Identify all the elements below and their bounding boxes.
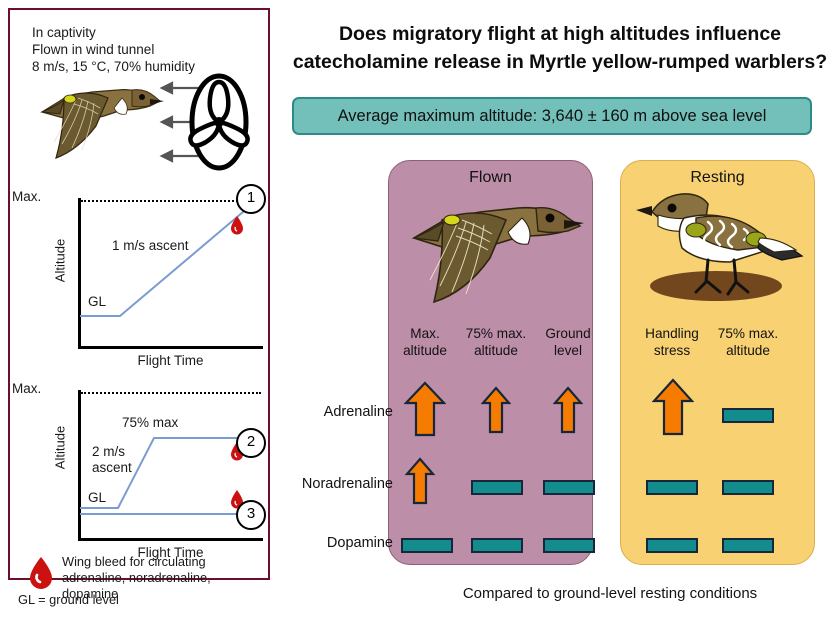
chart1-x-axis-label: Flight Time <box>78 353 263 368</box>
colhead-line1: 75% max. <box>712 325 784 342</box>
flying-warbler-icon <box>34 72 164 162</box>
chart2-plateau-label: 75% max <box>122 415 178 431</box>
chart2-ascent-line2: ascent <box>92 460 132 475</box>
comparison-footnote: Compared to ground-level resting conditi… <box>380 585 839 602</box>
column-header-flown-75-altitude: 75% max. altitude <box>460 325 532 359</box>
up-arrow-icon-noradrenaline-max-altitude <box>405 457 435 505</box>
chart1-ground-label: GL <box>88 294 106 309</box>
chart2-y-axis-label: Altitude <box>53 408 68 488</box>
captivity-line-2: Flown in wind tunnel <box>32 41 272 58</box>
up-arrow-icon-adrenaline-max-altitude <box>404 381 446 437</box>
up-arrow-icon-adrenaline-75-altitude <box>481 386 511 434</box>
chart2-ascent-line1: 2 m/s <box>92 444 125 459</box>
row-label-dopamine: Dopamine <box>283 535 393 551</box>
colhead-line2: level <box>532 342 604 359</box>
chart1-y-axis-label: Altitude <box>53 221 68 301</box>
column-header-resting-handling-stress: Handling stress <box>636 325 708 359</box>
blood-drop-icon <box>230 216 244 235</box>
page-title-line-1: Does migratory flight at high altitudes … <box>286 20 834 48</box>
chart2-ascent-note: 2 m/s ascent <box>92 444 132 476</box>
colhead-line2: altitude <box>389 342 461 359</box>
chart2-ground-label: GL <box>88 490 106 505</box>
bleed-marker-1: 1 <box>236 184 266 214</box>
chart2-max-label: Max. <box>12 381 41 396</box>
row-label-noradrenaline: Noradrenaline <box>276 476 393 492</box>
colhead-line1: 75% max. <box>460 325 532 342</box>
chart1-max-label: Max. <box>12 189 41 204</box>
colhead-line2: altitude <box>712 342 784 359</box>
wind-tunnel-fan-icon <box>188 72 250 172</box>
flying-warbler-icon <box>404 186 584 311</box>
perched-warbler-icon <box>634 182 804 312</box>
column-header-flown-max-altitude: Max. altitude <box>389 325 461 359</box>
page-title: Does migratory flight at high altitudes … <box>286 20 834 76</box>
flight-profile-chart-2: Altitude Max. 75% max 2 m/s ascent GL Fl… <box>40 390 270 568</box>
chart1-ascent-note: 1 m/s ascent <box>112 238 189 254</box>
no-change-bar-dopamine-ground-level <box>543 538 595 553</box>
column-header-resting-75-altitude: 75% max. altitude <box>712 325 784 359</box>
up-arrow-icon-adrenaline-ground-level <box>553 386 583 434</box>
colhead-line2: altitude <box>460 342 532 359</box>
no-change-bar-dopamine-handling-stress <box>646 538 698 553</box>
infographic-root: In captivity Flown in wind tunnel 8 m/s,… <box>0 0 839 624</box>
no-change-bar-dopamine-75-altitude <box>471 538 523 553</box>
ground-level-legend: GL = ground level <box>18 592 119 607</box>
no-change-bar-dopamine-resting-75 <box>722 538 774 553</box>
no-change-bar-adrenaline-resting-75 <box>722 408 774 423</box>
no-change-bar-noradrenaline-resting-75 <box>722 480 774 495</box>
bleed-marker-3: 3 <box>236 500 266 530</box>
blood-drop-icon <box>28 556 54 590</box>
up-arrow-icon-adrenaline-handling-stress <box>652 378 694 436</box>
bleed-marker-2: 2 <box>236 428 266 458</box>
row-label-adrenaline: Adrenaline <box>283 404 393 420</box>
no-change-bar-noradrenaline-handling-stress <box>646 480 698 495</box>
no-change-bar-noradrenaline-75-altitude <box>471 480 523 495</box>
average-altitude-banner: Average maximum altitude: 3,640 ± 160 m … <box>292 97 812 135</box>
no-change-bar-noradrenaline-ground-level <box>543 480 595 495</box>
colhead-line1: Max. <box>389 325 461 342</box>
captivity-conditions: In captivity Flown in wind tunnel 8 m/s,… <box>32 24 272 75</box>
colhead-line1: Handling <box>636 325 708 342</box>
column-header-flown-ground-level: Ground level <box>532 325 604 359</box>
flight-profile-chart-1: Altitude Max. GL 1 m/s ascent Flight Tim… <box>40 198 270 376</box>
no-change-bar-dopamine-max-altitude <box>401 538 453 553</box>
colhead-line2: stress <box>636 342 708 359</box>
methods-panel: In captivity Flown in wind tunnel 8 m/s,… <box>8 8 270 580</box>
captivity-line-1: In captivity <box>32 24 272 41</box>
page-title-line-2: catecholamine release in Myrtle yellow-r… <box>286 48 834 76</box>
colhead-line1: Ground <box>532 325 604 342</box>
panel-flown-title: Flown <box>389 169 592 187</box>
